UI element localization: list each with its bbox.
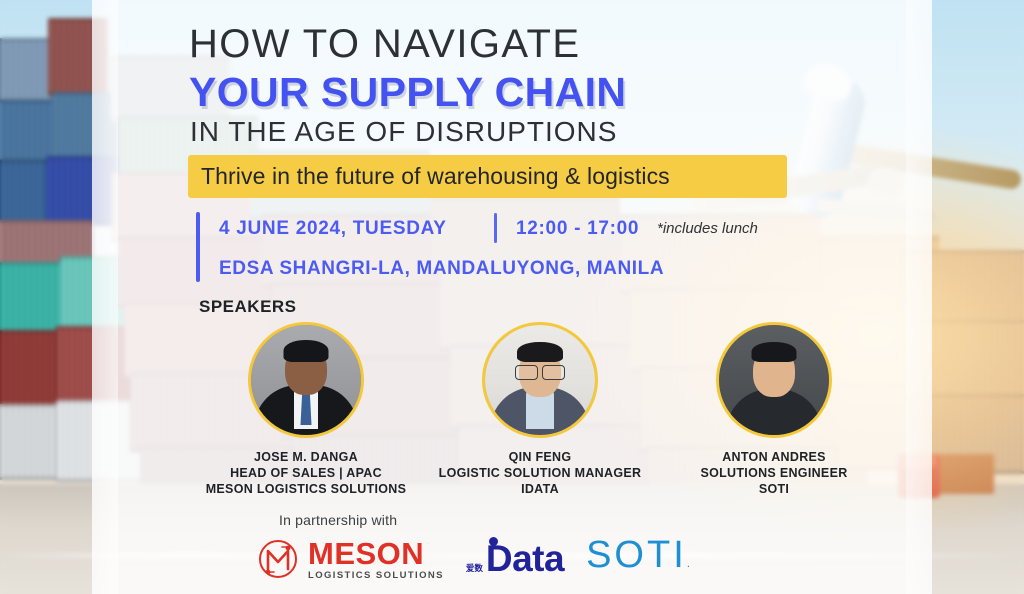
tagline-banner: Thrive in the future of warehousing & lo… [188,155,787,198]
speaker-card: JOSE M. DANGA HEAD OF SALES | APAC MESON… [190,322,422,497]
soti-name: SOTI [586,534,687,576]
idata-wordmark: Data [486,540,564,578]
speaker-card: QIN FENG LOGISTIC SOLUTION MANAGER IDATA [424,322,656,497]
speakers-list: JOSE M. DANGA HEAD OF SALES | APAC MESON… [190,322,890,507]
speaker-avatar [248,322,364,438]
event-venue: EDSA SHANGRI-LA, MANDALUYONG, MANILA [219,258,664,280]
speaker-org: SOTI [658,481,890,497]
speaker-name: ANTON ANDRES [658,449,890,465]
avatar-glasses-left [515,365,538,380]
event-time: 12:00 - 17:00 [516,218,639,240]
meson-name: MESON [308,538,444,569]
soti-registered-mark: . [687,556,693,570]
headline-line-2: YOUR SUPPLY CHAIN [189,69,626,116]
avatar-hair [284,340,329,362]
meson-wordmark: MESON LOGISTICS SOLUTIONS [308,538,444,581]
event-date: 4 JUNE 2024, TUESDAY [219,218,447,240]
speakers-heading: SPEAKERS [199,297,297,317]
idata-logo: 爱数 Data [466,540,564,578]
tagline-text: Thrive in the future of warehousing & lo… [201,163,670,190]
soti-logo: SOTI. [586,535,693,583]
avatar-hair [517,342,563,362]
partnership-label: In partnership with [279,512,397,528]
speaker-card: ANTON ANDRES SOLUTIONS ENGINEER SOTI [658,322,890,497]
partner-logos: MESON LOGISTICS SOLUTIONS 爱数 Data SOTI. [255,533,693,585]
date-time-divider [494,213,497,243]
poster-content: HOW TO NAVIGATE YOUR SUPPLY CHAIN IN THE… [0,0,1024,594]
avatar-hair [752,342,797,362]
event-banner: HOW TO NAVIGATE YOUR SUPPLY CHAIN IN THE… [0,0,1024,594]
avatar-glasses-right [542,365,565,380]
speaker-role: HEAD OF SALES | APAC [190,465,422,481]
idata-name: Data [486,538,564,579]
meson-mark-icon [255,536,301,582]
speaker-avatar [482,322,598,438]
headline-line-3: IN THE AGE OF DISRUPTIONS [190,116,617,148]
speaker-role: SOLUTIONS ENGINEER [658,465,890,481]
meson-logo: MESON LOGISTICS SOLUTIONS [255,536,444,582]
event-accent-bar [196,212,200,282]
speaker-name: JOSE M. DANGA [190,449,422,465]
speaker-name: QIN FENG [424,449,656,465]
speaker-org: MESON LOGISTICS SOLUTIONS [190,481,422,497]
idata-dot-icon [489,537,498,546]
speaker-avatar [716,322,832,438]
idata-chinese-mark: 爱数 [466,564,483,578]
speaker-org: IDATA [424,481,656,497]
speaker-role: LOGISTIC SOLUTION MANAGER [424,465,656,481]
meson-subtitle: LOGISTICS SOLUTIONS [308,571,444,581]
event-lunch-note: *includes lunch [657,220,758,237]
headline-line-1: HOW TO NAVIGATE [189,22,580,67]
